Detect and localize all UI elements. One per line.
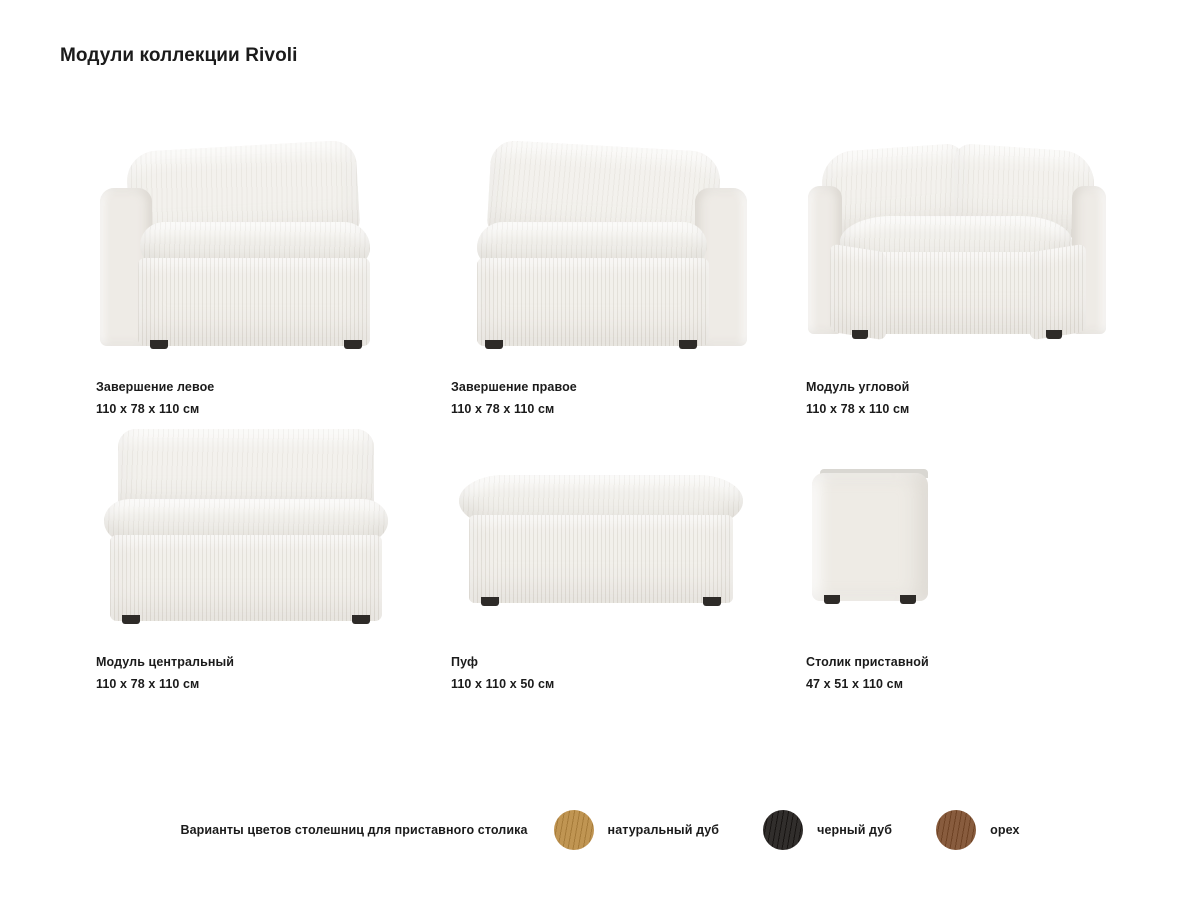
module-card-right-end[interactable]: Завершение правое 110 x 78 x 110 см [415,140,770,415]
module-caption: Завершение правое 110 x 78 x 110 см [451,378,577,420]
module-caption: Столик приставной 47 x 51 x 110 см [806,653,929,695]
module-caption: Модуль угловой 110 x 78 x 110 см [806,378,909,420]
black-oak-swatch-icon[interactable] [763,810,803,850]
tabletop-color-legend: Варианты цветов столешниц для приставног… [0,810,1200,850]
module-card-corner[interactable]: Модуль угловой 110 x 78 x 110 см [770,140,1125,415]
module-name: Модуль центральный [96,653,234,672]
module-card-ottoman[interactable]: Пуф 110 x 110 x 50 см [415,415,770,690]
module-card-left-end[interactable]: Завершение левое 110 x 78 x 110 см [60,140,415,415]
legend-label: Варианты цветов столешниц для приставног… [180,823,527,837]
walnut-swatch-icon[interactable] [936,810,976,850]
module-name: Завершение левое [96,378,214,397]
module-name: Модуль угловой [806,378,909,397]
color-option-walnut[interactable]: орех [936,810,1019,850]
color-option-label: натуральный дуб [608,823,720,837]
module-name: Столик приставной [806,653,929,672]
color-option-natural-oak[interactable]: натуральный дуб [554,810,720,850]
sofa-left-end-icon [96,140,396,365]
sofa-center-icon [96,415,396,640]
module-name: Пуф [451,653,554,672]
natural-oak-swatch-icon[interactable] [554,810,594,850]
module-dimensions: 47 x 51 x 110 см [806,675,929,694]
color-option-label: орех [990,823,1019,837]
module-caption: Модуль центральный 110 x 78 x 110 см [96,653,234,695]
page-title: Модули коллекции Rivoli [60,45,298,67]
color-option-label: черный дуб [817,823,892,837]
module-card-side-table[interactable]: Столик приставной 47 x 51 x 110 см [770,415,1125,690]
side-table-icon [806,415,1106,640]
sofa-corner-icon [806,140,1106,365]
product-modules-page: Модули коллекции Rivoli Заве [0,0,1200,900]
module-card-center[interactable]: Модуль центральный 110 x 78 x 110 см [60,415,415,690]
module-dimensions: 110 x 110 x 50 см [451,675,554,694]
module-caption: Завершение левое 110 x 78 x 110 см [96,378,214,420]
modules-grid: Завершение левое 110 x 78 x 110 см Завер… [60,140,1150,690]
module-caption: Пуф 110 x 110 x 50 см [451,653,554,695]
module-dimensions: 110 x 78 x 110 см [96,675,234,694]
color-option-black-oak[interactable]: черный дуб [763,810,892,850]
module-name: Завершение правое [451,378,577,397]
ottoman-icon [451,415,751,640]
sofa-right-end-icon [451,140,751,365]
